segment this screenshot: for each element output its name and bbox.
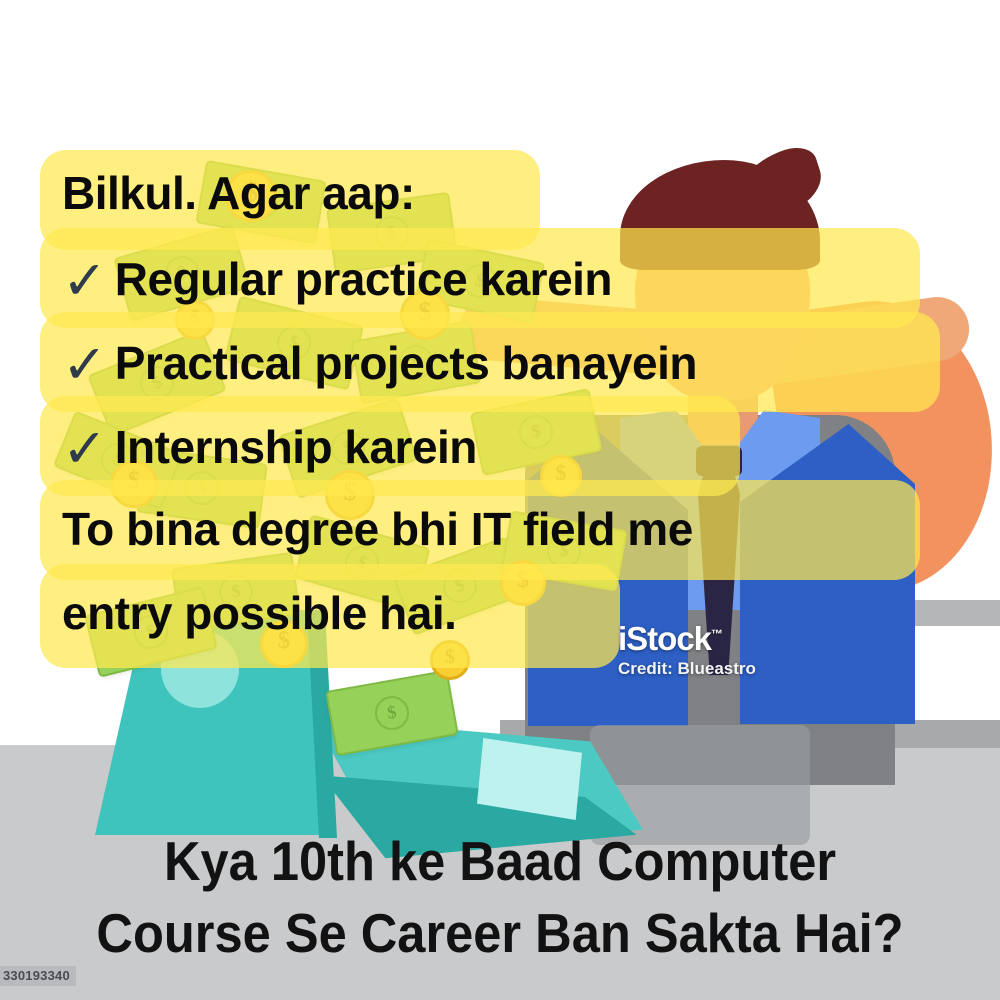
- checkmark-icon: ✓: [62, 338, 107, 392]
- panel-line-3: ✓Practical projects banayein: [62, 338, 697, 392]
- yellow-text-panel: Bilkul. Agar aap:✓Regular practice karei…: [40, 150, 960, 670]
- panel-line-6: entry possible hai.: [62, 590, 456, 636]
- istock-watermark: iStock™ Credit: Blueastro: [618, 622, 848, 679]
- panel-line-text: Practical projects banayein: [115, 337, 697, 389]
- istock-asset-id: 330193340: [0, 966, 76, 986]
- panel-line-text: entry possible hai.: [62, 587, 456, 639]
- panel-line-text: Internship karein: [115, 421, 477, 473]
- checkmark-icon: ✓: [62, 254, 107, 308]
- istock-brand: iStock™: [618, 622, 848, 655]
- panel-line-1: Bilkul. Agar aap:: [62, 170, 415, 216]
- poster-canvas: $$$$$$$$$$$$$$$$$$$$$$$$$$ Bilkul. Agar …: [0, 0, 1000, 1000]
- panel-line-text: To bina degree bhi IT field me: [62, 503, 693, 555]
- panel-line-4: ✓Internship karein: [62, 422, 477, 476]
- caption-line-1: Kya 10th ke Baad Computer: [40, 825, 960, 897]
- panel-line-text: Regular practice karein: [115, 253, 612, 305]
- panel-line-2: ✓Regular practice karein: [62, 254, 612, 308]
- panel-line-5: To bina degree bhi IT field me: [62, 506, 693, 552]
- poster-caption: Kya 10th ke Baad Computer Course Se Care…: [0, 825, 1000, 969]
- dollar-sign-icon: $: [372, 693, 411, 732]
- panel-line-text: Bilkul. Agar aap:: [62, 167, 415, 219]
- checkmark-icon: ✓: [62, 422, 107, 476]
- istock-credit: Credit: Blueastro: [618, 659, 848, 679]
- istock-brand-text: iStock: [618, 620, 711, 657]
- caption-line-2: Course Se Career Ban Sakta Hai?: [40, 897, 960, 969]
- trademark-icon: ™: [711, 627, 723, 641]
